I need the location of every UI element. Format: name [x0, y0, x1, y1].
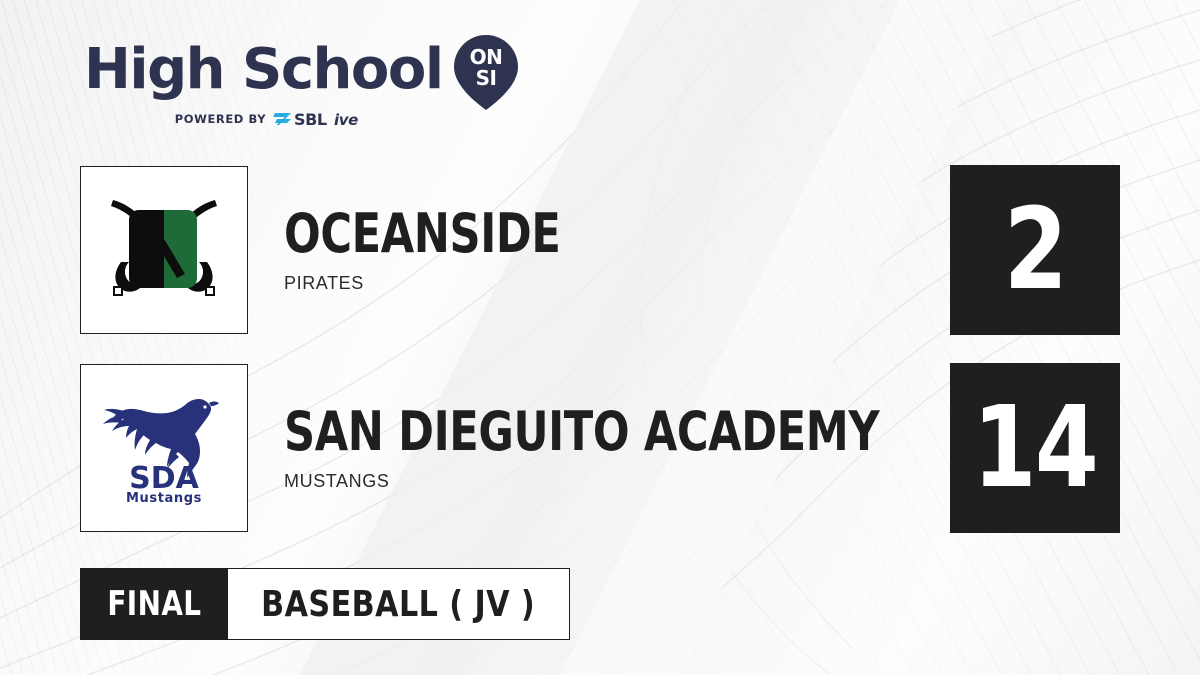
brand-title: High School — [84, 42, 443, 98]
san-dieguito-academy-mustangs-logo: SDA Mustangs — [101, 389, 227, 507]
sport-label: BASEBALL ( JV ) — [261, 584, 535, 625]
team-score-box: 14 — [950, 363, 1120, 533]
team-name: SAN DIEGUITO ACADEMY — [284, 405, 817, 459]
team-mascot: MUSTANGS — [284, 471, 950, 492]
on-si-pin-icon: ON SI — [453, 33, 519, 111]
team-score: 2 — [1004, 194, 1066, 306]
team-name: OCEANSIDE — [284, 207, 817, 261]
oceanside-pirates-logo — [99, 190, 229, 310]
team-text-block: OCEANSIDE PIRATES — [284, 207, 950, 294]
game-status-bar: FINAL BASEBALL ( JV ) — [80, 568, 570, 640]
powered-by-label: POWERED BY — [175, 112, 266, 126]
sblive-logo: SBL ive — [273, 109, 377, 129]
brand-title-row: High School ON SI — [84, 36, 504, 104]
team-score-box: 2 — [950, 165, 1120, 335]
team-logo-box: SDA Mustangs — [80, 364, 248, 532]
logo-text-mustangs: Mustangs — [126, 491, 202, 506]
team-mascot: PIRATES — [284, 273, 950, 294]
powered-by-row: POWERED BY SBL ive — [84, 108, 504, 130]
team-row: SDA Mustangs SAN DIEGUITO ACADEMY MUSTAN… — [80, 363, 1120, 533]
status-badge-label: FINAL — [107, 584, 201, 624]
scoreboard-graphic: High School ON SI POWERED BY SBL i — [0, 0, 1200, 675]
team-row: OCEANSIDE PIRATES 2 — [80, 165, 1120, 335]
sblive-text-light: ive — [334, 111, 358, 129]
sblive-text-bold: SBL — [294, 110, 327, 129]
pin-label-si: SI — [475, 66, 496, 90]
team-logo-box — [80, 166, 248, 334]
team-text-block: SAN DIEGUITO ACADEMY MUSTANGS — [284, 405, 950, 492]
status-badge: FINAL — [80, 568, 228, 640]
team-score: 14 — [973, 392, 1098, 504]
brand-lockup: High School ON SI POWERED BY SBL i — [84, 36, 504, 136]
sport-label-box: BASEBALL ( JV ) — [228, 568, 570, 640]
